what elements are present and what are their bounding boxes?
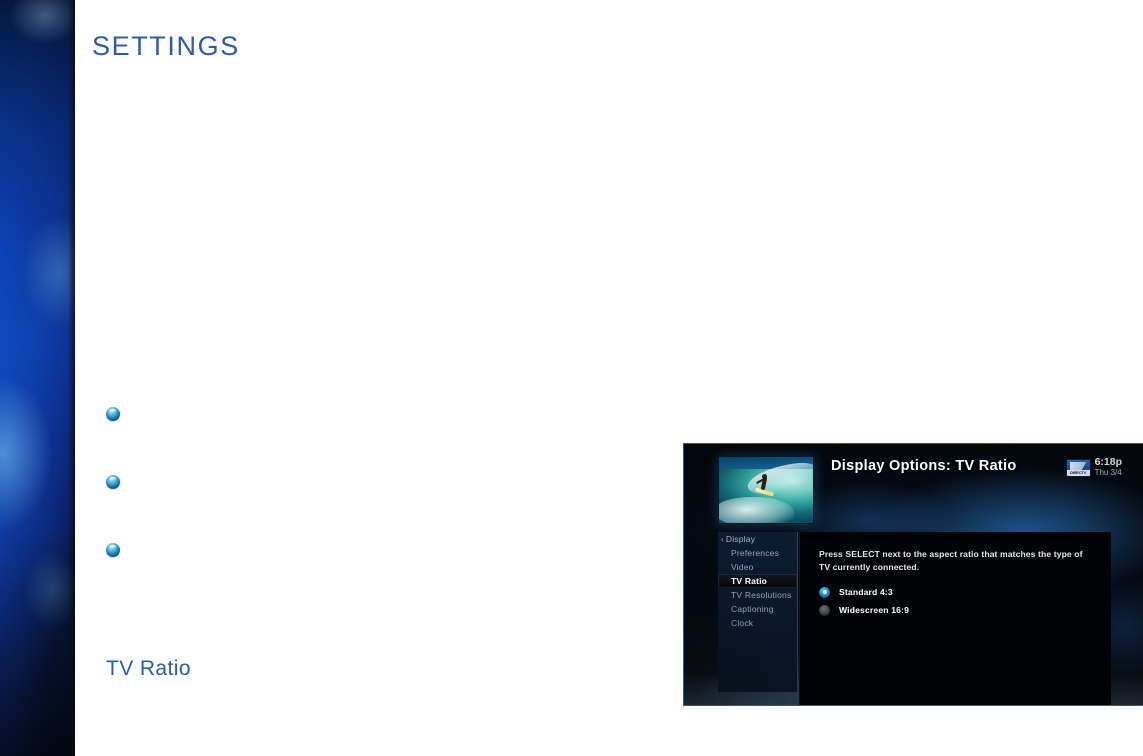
tv-screen-title: Display Options: TV Ratio xyxy=(831,458,1017,474)
radio-unselected-icon[interactable] xyxy=(819,605,830,616)
tv-menu-item-captioning[interactable]: Captioning xyxy=(718,602,797,616)
radio-selected-icon[interactable] xyxy=(819,587,830,598)
tv-menu-item-display[interactable]: ‹Display xyxy=(718,532,797,546)
tv-screenshot: Display Options: TV Ratio DIRECTV 6:18p … xyxy=(683,443,1143,706)
tv-menu-item-tv-ratio[interactable]: TV Ratio xyxy=(718,574,797,588)
tv-menu-item-tv-resolutions[interactable]: TV Resolutions xyxy=(718,588,797,602)
option-label: Widescreen 16:9 xyxy=(839,605,909,615)
bullet-marker xyxy=(106,407,120,421)
option-widescreen-16-9[interactable]: Widescreen 16:9 xyxy=(819,602,909,618)
clock-block: DIRECTV 6:18p Thu 3/4 xyxy=(1066,457,1122,478)
directv-logo-icon: DIRECTV xyxy=(1066,459,1091,477)
tv-menu-item-video[interactable]: Video xyxy=(718,560,797,574)
thumbnail-wave-foam xyxy=(718,497,794,524)
option-label: Standard 4:3 xyxy=(839,587,893,597)
clock-time: 6:18p xyxy=(1095,457,1122,468)
decorative-side-strip xyxy=(0,0,75,756)
tv-menu-item-clock[interactable]: Clock xyxy=(718,616,797,630)
page-root: SETTINGS TV Ratio Display Options: TV Ra… xyxy=(0,0,1143,756)
bullet-marker xyxy=(106,475,120,489)
option-standard-4-3[interactable]: Standard 4:3 xyxy=(819,584,909,600)
section-heading: TV Ratio xyxy=(106,657,191,681)
video-thumbnail xyxy=(718,456,814,524)
tv-menu-label: Display xyxy=(726,534,755,544)
tv-menu[interactable]: ‹Display Preferences Video TV Ratio TV R… xyxy=(718,532,798,692)
aspect-ratio-option-group[interactable]: Standard 4:3 Widescreen 16:9 xyxy=(819,584,909,620)
chevron-left-icon: ‹ xyxy=(721,533,724,547)
instruction-text: Press SELECT next to the aspect ratio th… xyxy=(819,548,1093,574)
clock-date: Thu 3/4 xyxy=(1095,468,1122,478)
tv-content-pane: Press SELECT next to the aspect ratio th… xyxy=(799,532,1111,705)
side-strip-shadow xyxy=(68,0,75,756)
directv-wordmark: DIRECTV xyxy=(1067,470,1090,476)
surfer-figure xyxy=(758,477,771,499)
tv-menu-item-preferences[interactable]: Preferences xyxy=(718,546,797,560)
bullet-marker xyxy=(106,543,120,557)
page-title: SETTINGS xyxy=(92,31,240,62)
clock-text: 6:18p Thu 3/4 xyxy=(1095,457,1122,478)
